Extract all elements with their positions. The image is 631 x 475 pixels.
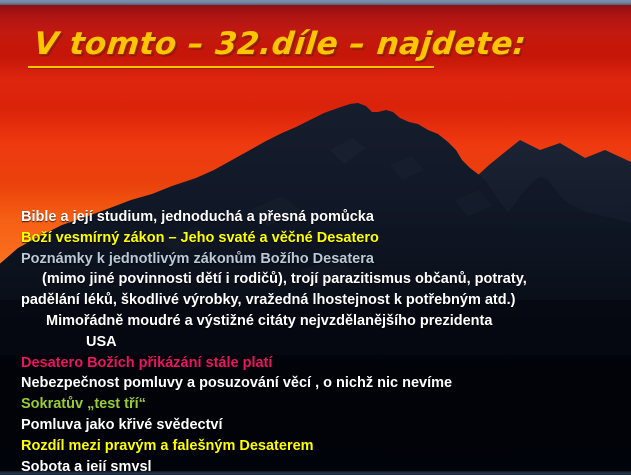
slide-top-border <box>0 0 631 5</box>
list-item: Mimořádně moudré a výstižné citáty nejvz… <box>0 311 631 332</box>
list-item: Bible a její studium, jednoduchá a přesn… <box>0 207 631 228</box>
list-item: Pomluva jako křivé svědectví <box>0 415 631 436</box>
list-item: Rozdíl mezi pravým a falešným Desaterem <box>0 436 631 457</box>
list-item: Poznámky k jednotlivým zákonům Božího De… <box>0 249 631 270</box>
presentation-slide: V tomto – 32.díle – najdete: Bible a jej… <box>0 0 631 475</box>
slide-bottom-border <box>0 471 631 475</box>
list-item: Boží vesmírný zákon – Jeho svaté a věčné… <box>0 228 631 249</box>
list-item: (mimo jiné povinnosti dětí i rodičů), tr… <box>0 269 631 290</box>
title-underline <box>28 66 434 68</box>
list-item: USA <box>0 332 631 353</box>
list-item: Sokratův „test tří“ <box>0 394 631 415</box>
list-item: Desatero Božích přikázání stále platí <box>0 353 631 374</box>
content-list: Bible a její studium, jednoduchá a přesn… <box>0 207 631 475</box>
list-item: padělání léků, škodlivé výrobky, vražedn… <box>0 290 631 311</box>
list-item: Nebezpečnost pomluvy a posuzování věcí ,… <box>0 373 631 394</box>
page-title: V tomto – 32.díle – najdete: <box>32 26 528 62</box>
